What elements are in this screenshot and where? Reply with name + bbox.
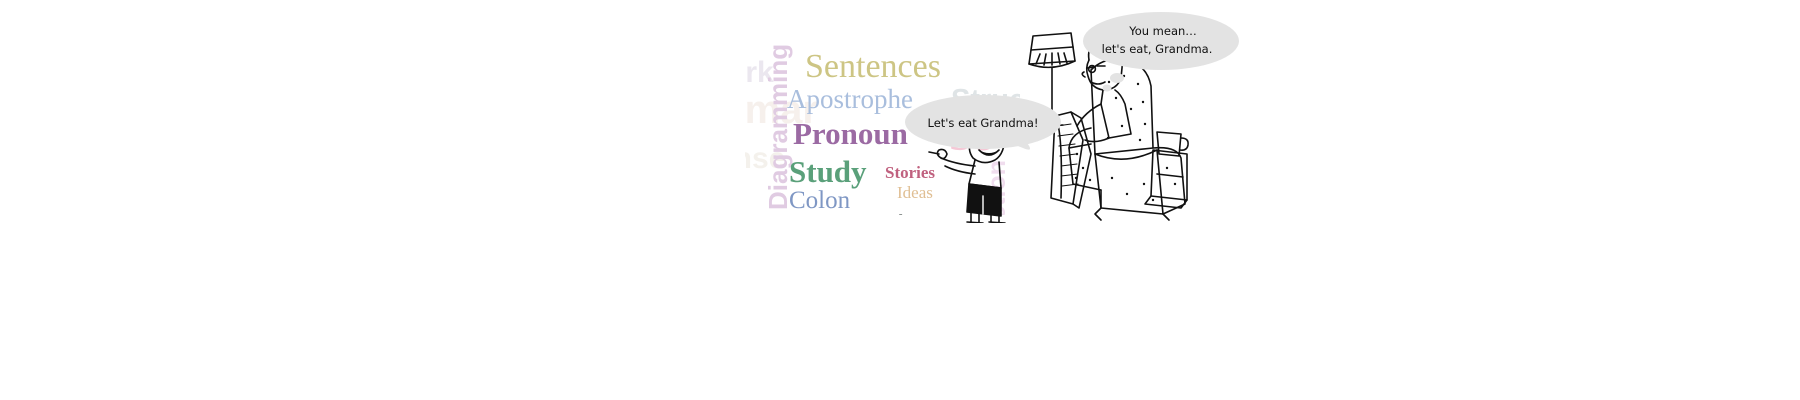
word-cloud-word-study: Study: [789, 156, 867, 187]
grammar-comma-cartoon: Let's eat Grandma! You mean… let's eat, …: [895, 8, 1255, 223]
speech-bubble-boy-text: Let's eat Grandma!: [927, 116, 1038, 130]
thought-bubble-grandma: You mean… let's eat, Grandma.: [1083, 12, 1239, 92]
word-cloud-word-pronoun: Pronoun: [793, 118, 908, 149]
word-cloud-word-diagramming: Diagramming: [765, 44, 791, 210]
page-root: ork mmar ense Diagramming Sentences Apos…: [0, 0, 1800, 400]
cartoon-illustration: Let's eat Grandma! You mean… let's eat, …: [895, 8, 1255, 223]
speech-bubble-boy: Let's eat Grandma!: [905, 95, 1061, 150]
thought-bubble-line-2: let's eat, Grandma.: [1102, 42, 1213, 56]
thought-bubble-line-1: You mean…: [1128, 24, 1197, 38]
